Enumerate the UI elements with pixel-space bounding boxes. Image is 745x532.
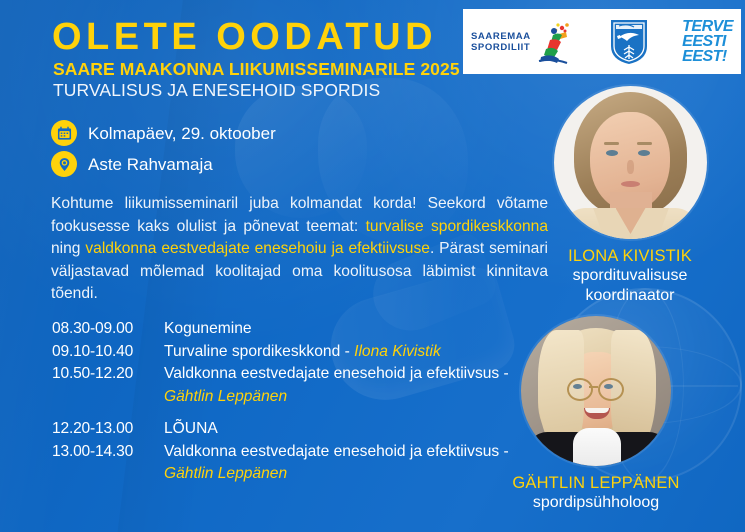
schedule-time: 13.00-14.30 xyxy=(52,441,164,486)
schedule-description: Valdkonna eestvedajate enesehoid ja efek… xyxy=(164,363,512,408)
schedule-row: 12.20-13.00 LÕUNA xyxy=(52,418,512,441)
portrait-eyebrow-right xyxy=(637,142,652,145)
schedule-time: 08.30-09.00 xyxy=(52,318,164,341)
portrait-eye-left xyxy=(606,150,618,156)
schedule-description: Turvaline spordikeskkond - Ilona Kivisti… xyxy=(164,341,512,364)
schedule-row: 09.10-10.40 Turvaline spordikeskkond - I… xyxy=(52,341,512,364)
ilona-kivistik-portrait xyxy=(554,86,707,239)
schedule-time: 10.50-12.20 xyxy=(52,363,164,408)
event-date-text: Kolmapäev, 29. oktoober xyxy=(88,125,276,142)
schedule-time: 12.20-13.00 xyxy=(52,418,164,441)
schedule-desc-text: LÕUNA xyxy=(164,420,218,437)
schedule-desc-text: Valdkonna eestvedajate enesehoid ja efek… xyxy=(164,365,509,382)
sponsor-logo-strip: SAAREMAA SPORDILIIT xyxy=(463,9,741,74)
speaker-card-ilona-kivistik: ILONA KIVISTIK spordituvalisuse koordina… xyxy=(514,86,745,306)
terve-logo-line1: TERVE xyxy=(682,19,733,34)
schedule-row: 10.50-12.20 Valdkonna eestvedajate enese… xyxy=(52,363,512,408)
schedule-list: 08.30-09.00 Kogunemine 09.10-10.40 Turva… xyxy=(52,318,512,486)
saaremaa-coat-of-arms-icon xyxy=(609,18,649,66)
event-poster: OLETE OODATUD SAARE MAAKONNA LIIKUMISSEM… xyxy=(0,0,745,532)
calendar-glyph xyxy=(57,126,72,141)
portrait-glasses-right-lens xyxy=(598,378,624,401)
map-pin-icon xyxy=(51,151,77,177)
speaker-name: GÄHTLIN LEPPÄNEN xyxy=(480,474,712,493)
schedule-description: Kogunemine xyxy=(164,318,512,341)
portrait-lips xyxy=(621,181,640,187)
calendar-icon xyxy=(51,120,77,146)
event-description: Kohtume liikumisseminaril juba kolmandat… xyxy=(51,193,548,306)
schedule-speaker: Gähtlin Leppänen xyxy=(164,465,287,482)
schedule-time: 09.10-10.40 xyxy=(52,341,164,364)
page-subtitle: SAARE MAAKONNA LIIKUMISSEMINARILE 2025 xyxy=(53,61,460,79)
speaker-role-line2: koordinaator xyxy=(514,286,745,306)
terve-eesti-eest-logo: TERVE EESTI EEST! xyxy=(682,19,733,64)
schedule-desc-text: Turvaline spordikeskkond - xyxy=(164,343,354,360)
terve-logo-line3: EEST! xyxy=(682,49,733,64)
schedule-row: 13.00-14.30 Valdkonna eestvedajate enese… xyxy=(52,441,512,486)
portrait-teeth xyxy=(585,408,609,413)
portrait-nose xyxy=(627,160,634,174)
saaremaa-logo-line1: SAAREMAA xyxy=(471,31,531,42)
gahtlin-leppanen-portrait xyxy=(521,316,671,466)
portrait-glasses-bridge xyxy=(589,386,598,388)
speaker-role-line1: spordipsühholoog xyxy=(480,493,712,513)
schedule-desc-text: Valdkonna eestvedajate enesehoid ja efek… xyxy=(164,443,509,460)
speaker-name: ILONA KIVISTIK xyxy=(514,247,745,266)
page-subtitle-secondary: TURVALISUS JA ENESEHOID SPORDIS xyxy=(53,82,380,100)
speaker-role-line1: spordituvalisuse xyxy=(514,266,745,286)
speaker-card-gahtlin-leppanen: GÄHTLIN LEPPÄNEN spordipsühholoog xyxy=(480,316,712,513)
description-highlight-2: valdkonna eestvedajate enesehoiu ja efek… xyxy=(85,240,430,257)
saaremaa-logo-line2: SPORDILIIT xyxy=(471,42,531,53)
saaremaa-spordiliit-logo: SAAREMAA SPORDILIIT xyxy=(471,19,577,65)
schedule-row: 08.30-09.00 Kogunemine xyxy=(52,318,512,341)
schedule-speaker: Ilona Kivistik xyxy=(354,343,441,360)
schedule-spacer xyxy=(52,408,512,418)
schedule-description: Valdkonna eestvedajate enesehoid ja efek… xyxy=(164,441,512,486)
torch-runner-icon xyxy=(533,19,577,65)
portrait-glasses-left-lens xyxy=(567,378,593,401)
page-title: OLETE OODATUD xyxy=(52,18,437,56)
event-location-text: Aste Rahvamaja xyxy=(88,156,213,173)
schedule-speaker: Gähtlin Leppänen xyxy=(164,388,287,405)
description-part-2: ning xyxy=(51,240,85,257)
map-pin-glyph xyxy=(57,157,72,172)
portrait-eye-right xyxy=(638,150,650,156)
portrait-turtleneck xyxy=(573,428,621,466)
event-location-row: Aste Rahvamaja xyxy=(51,151,213,177)
event-date-row: Kolmapäev, 29. oktoober xyxy=(51,120,276,146)
portrait-eyebrow-left xyxy=(604,142,619,145)
schedule-desc-text: Kogunemine xyxy=(164,320,252,337)
terve-logo-line2: EESTI xyxy=(682,34,733,49)
schedule-description: LÕUNA xyxy=(164,418,512,441)
